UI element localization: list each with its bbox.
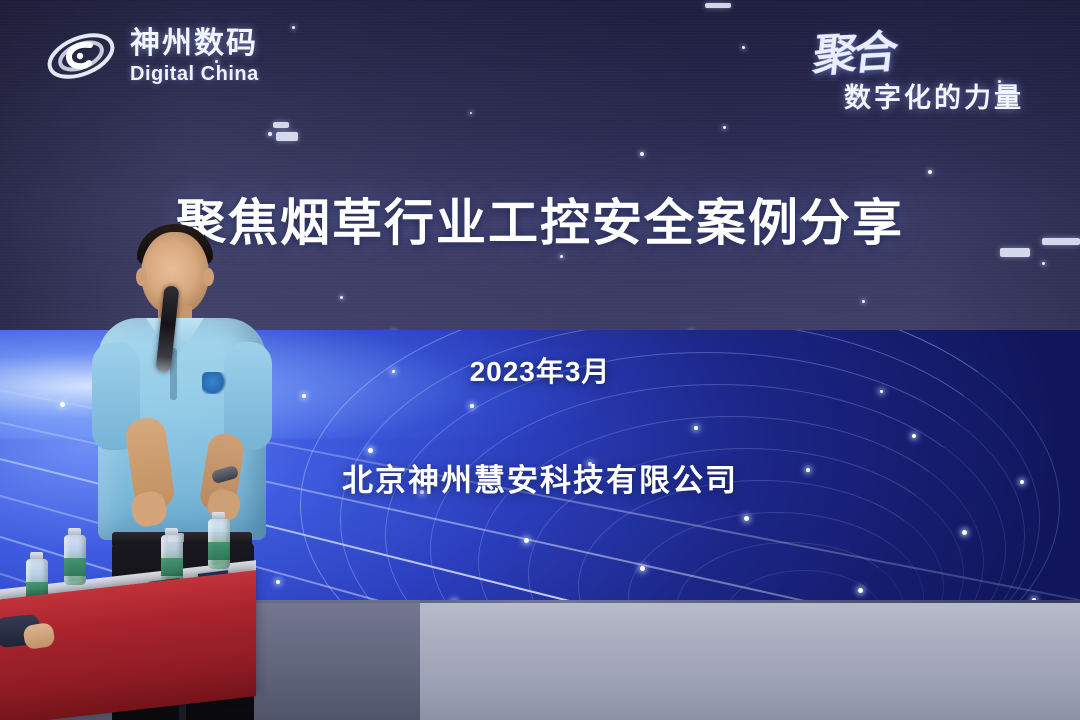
theme-subtitle: 数字化的力量 bbox=[844, 76, 1024, 115]
speaker-sleeve-right bbox=[224, 342, 272, 450]
bottle-label bbox=[208, 542, 230, 560]
digital-china-wordmark: 神州数码 Digital China bbox=[130, 29, 259, 84]
theme-calligraphy: 聚合 bbox=[810, 16, 897, 84]
speaker-ear-right bbox=[203, 268, 214, 286]
conference-photo: 神州数码 Digital China 聚合 数字化的力量 聚焦烟草行业工控安全案… bbox=[0, 0, 1080, 720]
event-theme-logo: 聚合 数字化的力量 bbox=[792, 18, 1052, 118]
speaker-chest-logo bbox=[202, 372, 228, 394]
digital-china-logo: 神州数码 Digital China bbox=[44, 20, 274, 92]
brand-name-english: Digital China bbox=[130, 64, 259, 84]
seated-attendee bbox=[0, 610, 62, 670]
speaker-ear-left bbox=[136, 268, 147, 286]
attendee-hand bbox=[22, 622, 55, 650]
digital-china-swirl-icon bbox=[44, 25, 118, 87]
brand-name-chinese: 神州数码 bbox=[130, 29, 259, 59]
bottle-label bbox=[161, 558, 183, 576]
bottle-label bbox=[64, 558, 86, 576]
